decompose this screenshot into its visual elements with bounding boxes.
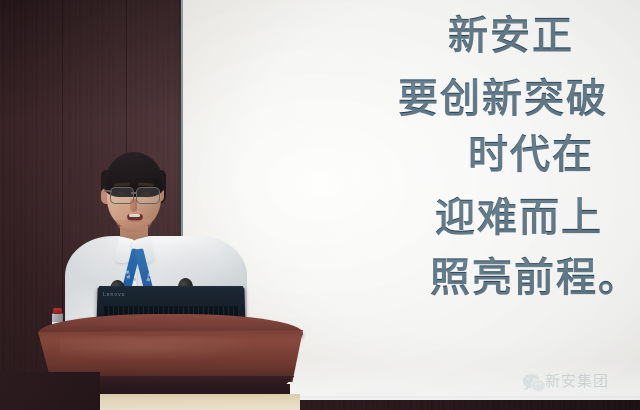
slide-line-5: 照亮前程。 [430, 245, 640, 303]
slide-line-1: 新安正 [448, 3, 574, 61]
slide-line-4: 迎难而上 [435, 185, 603, 243]
podium-left-shadow [0, 372, 100, 410]
slide-line-2: 要创新突破 [398, 66, 608, 124]
nose [130, 199, 137, 212]
watermark: 新安集团 [523, 370, 609, 391]
podium-trim-strip [95, 394, 300, 410]
glasses-bridge [131, 192, 137, 194]
slide-text-block: 新安正 要创新突破 时代在 迎难而上 照亮前程。 [183, 0, 640, 320]
laptop-brand-label: Lenovo [103, 292, 125, 298]
wechat-icon-dot [527, 378, 529, 380]
podium-highlight [60, 336, 260, 362]
water-bottle-cap [53, 308, 62, 314]
wechat-icon-small-bubble [531, 379, 546, 392]
wechat-icon-dot [539, 383, 541, 385]
glasses-lens-right [136, 187, 160, 204]
teeth [129, 214, 140, 217]
wechat-icon-dot [535, 383, 537, 385]
slide-line-3: 时代在 [468, 122, 594, 180]
wechat-icon [523, 374, 540, 388]
watermark-text: 新安集团 [545, 370, 609, 391]
screenshot-root: 新安正 要创新突破 时代在 迎难而上 照亮前程。 [0, 0, 640, 410]
